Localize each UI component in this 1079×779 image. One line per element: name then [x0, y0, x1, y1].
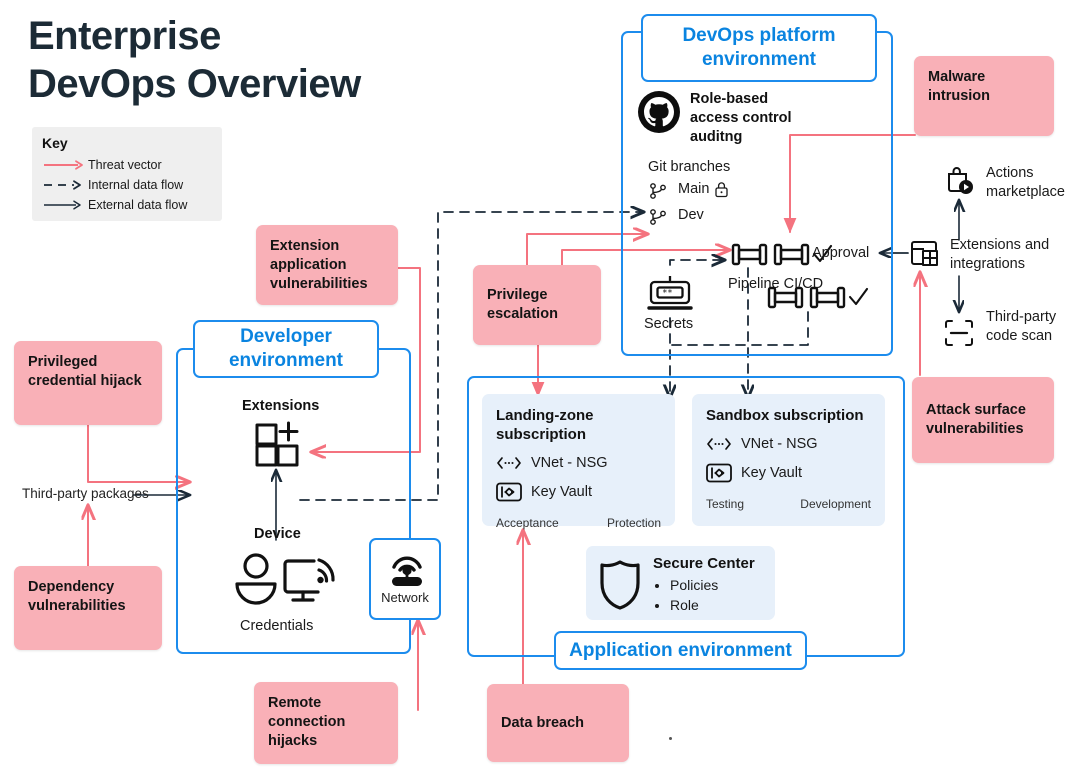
legend-label-internal-data-flow: Internal data flow — [88, 178, 183, 192]
sandbox-footer-testing: Testing — [706, 497, 744, 511]
secure-center-bullets: Policies Role — [653, 575, 755, 615]
actions-marketplace-label: Actions marketplace — [986, 164, 1078, 202]
secure-center-bullet-policies: Policies — [670, 575, 755, 595]
secure-center-card[interactable]: Secure Center Policies Role — [586, 546, 775, 620]
sandbox-vnet-label: VNet - NSG — [741, 436, 818, 452]
extensions-label: Extensions — [242, 398, 319, 414]
internal-data-flow-line-icon — [42, 178, 88, 192]
threat-label: Malware intrusion — [928, 69, 990, 104]
threat-attack-surface-vulnerabilities[interactable]: Attack surface vulnerabilities — [912, 377, 1054, 463]
landing-zone-footer-protection: Protection — [607, 516, 661, 530]
landing-zone-footer-acceptance: Acceptance — [496, 516, 559, 530]
sandbox-keyvault-label: Key Vault — [741, 465, 802, 481]
legend-item-threat-vector: Threat vector — [42, 155, 212, 175]
landing-zone-subscription-card[interactable]: Landing-zone subscription VNet - NSG Key… — [482, 394, 675, 526]
device-label: Device — [254, 526, 301, 542]
lock-icon — [714, 181, 729, 198]
git-branch-icon — [648, 182, 668, 200]
marketplace-bag-icon[interactable] — [942, 163, 976, 197]
rbac-auditing-label: Role-based access control auditng — [690, 90, 805, 147]
threat-label: Privilege escalation — [487, 286, 587, 324]
svg-text:**_: **_ — [662, 289, 678, 299]
legend-item-external-data-flow: External data flow — [42, 195, 212, 215]
code-scan-icon[interactable] — [943, 318, 975, 348]
credentials-label: Credentials — [240, 618, 313, 634]
device-monitor-icon — [281, 552, 339, 608]
git-branch-dev-label[interactable]: Dev — [678, 207, 704, 223]
developer-environment-pill[interactable]: Developer environment — [193, 320, 379, 378]
git-branch-main-label[interactable]: Main — [678, 181, 709, 197]
network-box[interactable]: Network — [369, 538, 441, 620]
legend-label-threat-vector: Threat vector — [88, 158, 162, 172]
stray-dot-artifact — [669, 737, 672, 740]
extensions-integrations-label: Extensions and integrations — [950, 236, 1070, 274]
developer-environment-label: Developer environment — [205, 325, 367, 373]
devops-platform-environment-label: DevOps platform environment — [653, 24, 865, 72]
threat-label: Extension application vulnerabilities — [270, 238, 368, 292]
legend-title: Key — [42, 135, 212, 151]
threat-privilege-escalation[interactable]: Privilege escalation — [473, 265, 601, 345]
pipeline-stage-icon[interactable] — [766, 283, 886, 313]
sandbox-keyvault-row: Key Vault — [706, 463, 871, 483]
network-label: Network — [371, 590, 439, 605]
page-title-line2: DevOps Overview — [28, 60, 508, 108]
legend-key: Key Threat vector Internal data flow Ext… — [32, 127, 222, 221]
sandbox-footer: Testing Development — [706, 497, 871, 511]
git-branch-icon — [648, 208, 668, 226]
threat-label: Dependency vulnerabilities — [28, 579, 126, 614]
devops-platform-environment-pill[interactable]: DevOps platform environment — [641, 14, 877, 82]
legend-label-external-data-flow: External data flow — [88, 198, 187, 212]
threat-extension-application-vulnerabilities[interactable]: Extension application vulnerabilities — [256, 225, 398, 305]
threat-label: Data breach — [501, 714, 584, 733]
network-antenna-icon — [385, 548, 429, 588]
shield-icon — [598, 559, 642, 611]
external-data-flow-line-icon — [42, 198, 88, 212]
landing-zone-vnet-label: VNet - NSG — [531, 455, 608, 471]
sandbox-vnet-row: VNet - NSG — [706, 436, 871, 452]
pipeline-approval-label: Approval — [812, 245, 869, 261]
user-icon — [234, 552, 278, 608]
secure-center-title: Secure Center — [653, 555, 755, 572]
vnet-icon — [706, 437, 732, 451]
threat-data-breach[interactable]: Data breach — [487, 684, 629, 762]
page-title-line1: Enterprise — [28, 12, 508, 60]
threat-label: Attack surface vulnerabilities — [926, 401, 1040, 439]
extensions-add-icon[interactable] — [254, 419, 310, 473]
secrets-terminal-icon: **_ — [645, 272, 695, 316]
landing-zone-keyvault-row: Key Vault — [496, 482, 661, 502]
third-party-code-scan-label: Third-party code scan — [986, 308, 1078, 346]
threat-remote-connection-hijacks[interactable]: Remote connection hijacks — [254, 682, 398, 764]
git-branches-heading: Git branches — [648, 159, 730, 175]
key-vault-icon — [496, 482, 522, 502]
threat-vector-line-icon — [42, 158, 88, 172]
secrets-label: Secrets — [644, 316, 693, 332]
key-vault-icon — [706, 463, 732, 483]
threat-dependency-vulnerabilities[interactable]: Dependency vulnerabilities — [14, 566, 162, 650]
threat-label: Remote connection hijacks — [268, 695, 345, 749]
landing-zone-keyvault-label: Key Vault — [531, 484, 592, 500]
sandbox-subscription-card[interactable]: Sandbox subscription VNet - NSG Key Vaul… — [692, 394, 885, 526]
sandbox-subscription-title: Sandbox subscription — [706, 406, 871, 425]
third-party-packages-label: Third-party packages — [22, 486, 149, 501]
extensions-window-icon[interactable] — [908, 236, 942, 270]
secure-center-bullet-role: Role — [670, 595, 755, 615]
legend-item-internal-data-flow: Internal data flow — [42, 175, 212, 195]
application-environment-label: Application environment — [569, 639, 792, 663]
landing-zone-vnet-row: VNet - NSG — [496, 455, 661, 471]
landing-zone-footer: Acceptance Protection — [496, 516, 661, 530]
threat-malware-intrusion[interactable]: Malware intrusion — [914, 56, 1054, 136]
application-environment-pill[interactable]: Application environment — [554, 631, 807, 670]
sandbox-footer-development: Development — [800, 497, 871, 511]
github-icon — [637, 90, 681, 134]
page-title: Enterprise DevOps Overview — [28, 12, 508, 108]
vnet-icon — [496, 456, 522, 470]
landing-zone-subscription-title: Landing-zone subscription — [496, 406, 661, 444]
threat-privileged-credential-hijack[interactable]: Privileged credential hijack — [14, 341, 162, 425]
threat-label: Privileged credential hijack — [28, 354, 142, 389]
